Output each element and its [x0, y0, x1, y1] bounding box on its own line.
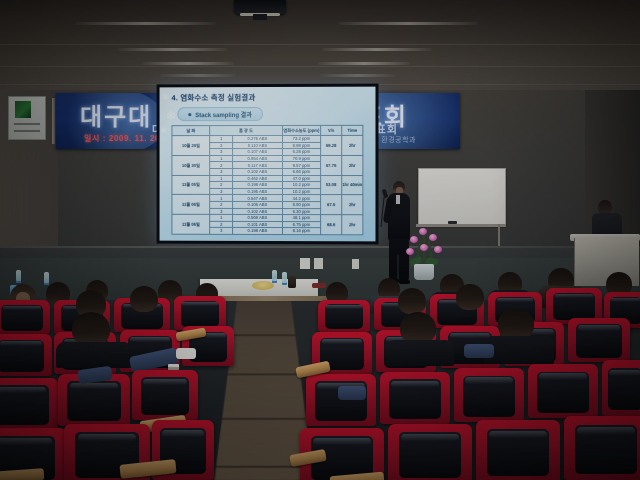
cell-vs: 53.08 [321, 175, 342, 195]
cell-time: 1hr 40min [342, 175, 363, 195]
ceiling [0, 0, 640, 96]
auditorium-photo: 대구대 발표회 대구 발표회 대구대학교 환경공학과 일시 : 2009. 11… [0, 0, 640, 480]
audience-leg [338, 386, 366, 400]
whiteboard-leg [498, 224, 500, 246]
auditorium-seat[interactable] [0, 334, 52, 376]
auditorium-seat[interactable] [174, 296, 226, 330]
banner-date: 일시 : 2009. 11. 20 [84, 133, 160, 144]
ceiling-light [76, 22, 216, 25]
projection-screen: ❄ ❄ ❄ 4. 염화수소 측정 실험결과 Stack sampling 결과 … [157, 84, 379, 245]
bullet-dot-icon [188, 113, 191, 116]
auditorium-seat[interactable] [132, 370, 198, 420]
ceiling-light [318, 62, 410, 65]
stage-object [300, 258, 310, 269]
whiteboard [418, 168, 506, 226]
table-item [312, 283, 326, 288]
cell-vs: 69.28 [321, 135, 342, 155]
cell-time: 2hr [342, 215, 363, 235]
banner-title-left: 대구대 [80, 97, 152, 132]
cell-date: 11월 06일 [172, 214, 210, 234]
snowflake-icon: ❄ [162, 93, 170, 103]
auditorium-seat[interactable] [568, 318, 630, 362]
whiteboard-tray [416, 224, 506, 227]
slide-title: 4. 염화수소 측정 실험결과 [171, 92, 255, 103]
ceiling-light [338, 22, 478, 25]
orchid-flower [410, 236, 418, 243]
auditorium-seat[interactable] [306, 374, 376, 426]
stage-object [314, 258, 323, 269]
auditorium-seat[interactable] [564, 416, 640, 480]
cell-date: 11월 05일 [172, 175, 210, 195]
auditorium-seat[interactable] [476, 420, 560, 480]
auditorium-seat[interactable] [602, 360, 640, 416]
ceiling-light [322, 48, 432, 51]
orchid-flower [419, 228, 427, 235]
wall-pipe [52, 98, 55, 144]
audience-shoe [176, 348, 196, 359]
cell-concentration: 8.16 ppm [282, 228, 320, 235]
audience-head [130, 286, 158, 312]
cell-date: 10월 29일 [172, 136, 210, 156]
slide-bullet-label: Stack sampling 결과 [195, 110, 251, 119]
stage-object [352, 259, 359, 269]
seat-armrest [0, 468, 44, 480]
cell-index: 3 [210, 228, 233, 235]
auditorium-seat[interactable] [0, 300, 50, 334]
auditorium-seat[interactable] [380, 372, 450, 424]
audience-body [386, 340, 454, 366]
snowflake-icon: ❄ [161, 127, 168, 135]
orchid-flower [429, 234, 437, 241]
snack-plate [252, 281, 274, 290]
drink-cup [288, 276, 296, 288]
whiteboard-marker [448, 221, 457, 224]
ceiling-light [142, 62, 234, 65]
cell-vs: 67.75 [321, 155, 342, 175]
audience-body [56, 342, 132, 368]
poster-graphic [15, 101, 31, 118]
audience-leg [464, 344, 494, 358]
auditorium-seat[interactable] [0, 378, 58, 430]
ceiling-light [118, 48, 228, 51]
auditorium-seat[interactable] [318, 300, 370, 332]
ceiling-light [320, 74, 396, 77]
cell-date: 11월 06일 [172, 195, 210, 215]
audience-head [456, 284, 484, 310]
auditorium-seat[interactable] [388, 424, 472, 480]
wall-poster [8, 96, 46, 140]
slide-bullet: Stack sampling 결과 [177, 107, 262, 121]
ceiling-light [160, 74, 236, 77]
audience-head [398, 288, 426, 314]
col-date: 날 짜 [172, 126, 210, 136]
col-vs: V/s [321, 125, 342, 135]
cell-vs: 68.6 [321, 215, 342, 235]
col-time: Time [342, 125, 363, 135]
water-bottle [272, 270, 277, 283]
cell-time: 2hr [342, 195, 363, 215]
orchid-pot [414, 264, 434, 280]
results-table: 날 짜 흡 광 도 염화수소농도 (ppm) V/s Time 10월 29일1… [171, 125, 363, 235]
ceiling-projector [234, 0, 286, 14]
auditorium-seat[interactable] [454, 368, 524, 422]
audience-head [72, 312, 110, 346]
water-bottle [44, 272, 49, 285]
water-bottle [282, 272, 287, 285]
cell-absorbance: 0.198 ABS [233, 228, 283, 235]
presenter-shirt [396, 195, 400, 204]
audience-body [484, 336, 554, 364]
orchid-flower [420, 244, 428, 251]
col-absorbance: 흡 광 도 [210, 125, 282, 135]
water-bottle [16, 270, 21, 283]
snowflake-icon: ❄ [166, 109, 177, 122]
projector-mount [253, 14, 267, 20]
presenter-shoe [399, 280, 410, 284]
orchid-flower [406, 248, 414, 255]
orchid-flower [434, 246, 442, 253]
cell-date: 10월 30일 [172, 155, 210, 175]
cell-vs: 67.5 [321, 195, 342, 215]
cell-time: 2hr [342, 155, 363, 175]
table-header-row: 날 짜 흡 광 도 염화수소농도 (ppm) V/s Time [172, 125, 363, 135]
presentation-slide: ❄ ❄ ❄ 4. 염화수소 측정 실험결과 Stack sampling 결과 … [160, 87, 376, 242]
col-concentration: 염화수소농도 (ppm) [282, 125, 320, 135]
orchid-plant [404, 228, 444, 280]
auditorium-seat[interactable] [528, 364, 598, 418]
cell-time: 2hr [342, 135, 363, 155]
